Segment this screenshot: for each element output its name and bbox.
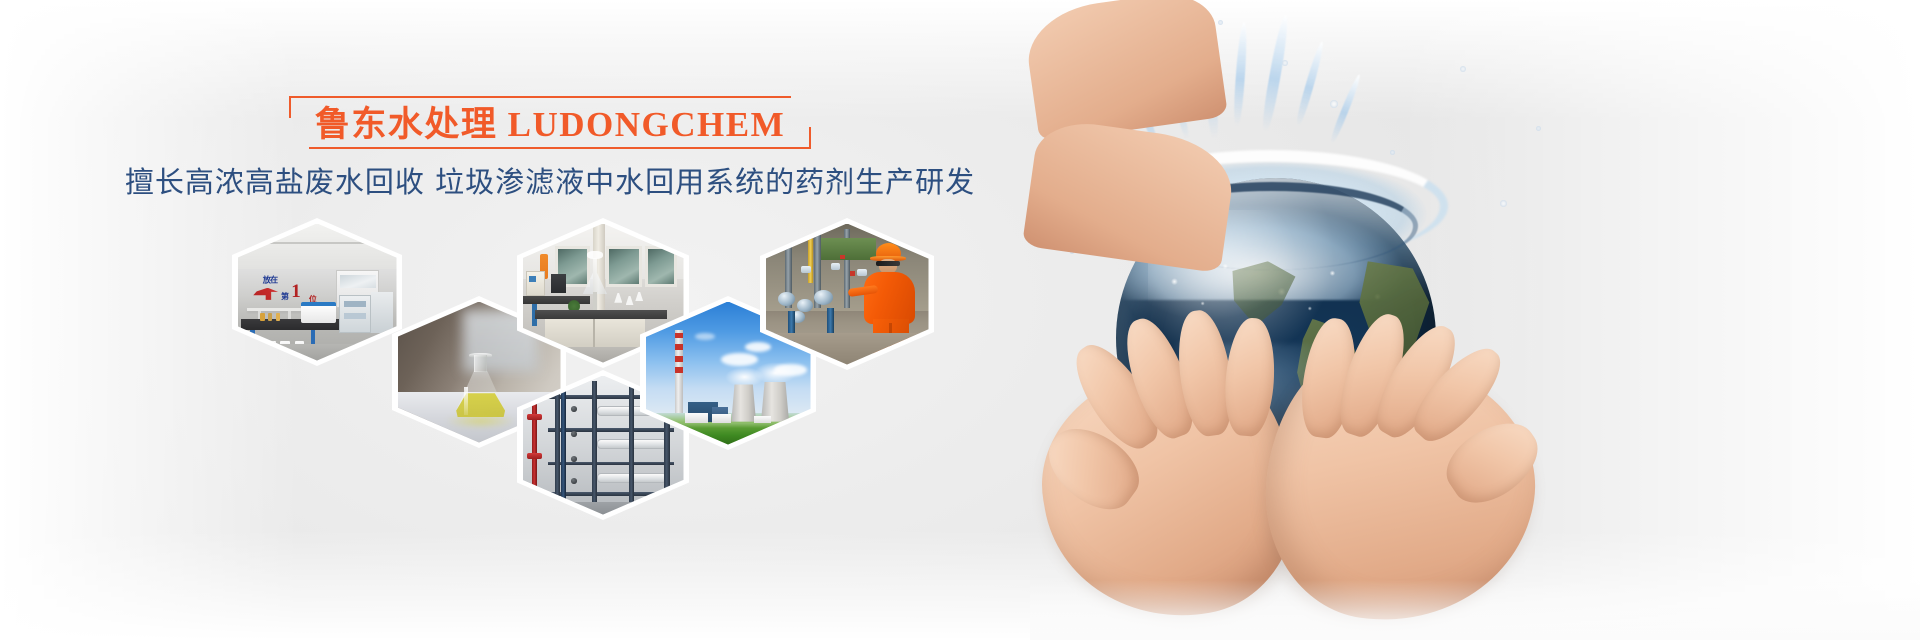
yellow-pipe [808,235,813,283]
stack-stripe [675,344,682,350]
erlenmeyer-flask [456,355,505,417]
worker-arm [848,285,878,297]
hero-banner: 鲁东水处理 LUDONGCHEM 擅长高浓高盐废水回收 垃圾渗滤液中水回用系统的… [0,0,1920,640]
small-flask [626,296,634,306]
water-streak [1294,41,1326,128]
page-subtitle: 擅长高浓高盐废水回收 垃圾渗滤液中水回用系统的药剂生产研发 [0,165,1100,200]
water-droplet [1330,100,1338,108]
water-globe-artwork [1030,0,1920,640]
water-droplet [1536,126,1541,131]
liquid-reflection [446,414,514,428]
pipe-fitting [571,456,577,462]
stack-stripe [675,333,682,339]
lab-bench-leg [250,330,255,349]
stack-stripe [675,367,682,373]
hexagon-photo-cluster: 放在 第 1 位 [232,218,952,518]
water-streak [1260,14,1291,132]
lab-room-photo: 放在 第 1 位 [238,224,397,361]
cooling-tower [731,384,756,421]
lab-instrument [301,302,336,324]
cloud [745,342,771,352]
lab-refrigerator [371,292,393,333]
control-box [801,266,811,273]
red-marker [840,255,845,259]
lab-window [645,246,677,288]
cooling-tower-steam [754,362,797,385]
island-bench-top [535,310,667,320]
cloud [695,333,715,340]
lab-ceiling [238,224,397,269]
small-flask [635,292,643,302]
title-bracket-frame: 鲁东水处理 LUDONGCHEM [289,96,811,149]
water-droplet [1218,20,1223,25]
lab-control-tower [339,295,371,333]
cloud [721,353,757,366]
flask-neck [474,355,488,372]
lab-floor [238,344,397,360]
small-flask [614,293,622,303]
plant-floor [523,502,684,515]
frame-rail [548,492,674,496]
bottom-fade-overlay [1030,580,1920,640]
frame-rail [548,428,674,432]
apparatus-top [587,251,602,259]
pipe-fitting [571,406,577,412]
blue-pipe [561,389,566,500]
apparatus-stand [593,292,598,310]
flask-highlight [464,387,468,414]
reagent-bottle [260,313,265,321]
lab-analyzer [526,271,545,296]
valve-wheel [797,299,813,313]
reagent-bottle [268,313,273,321]
storage-jug [266,341,276,357]
orange-coveralls [864,272,915,324]
title-rule-bottom [309,147,791,149]
frame-rail [548,462,674,466]
page-title: 鲁东水处理 LUDONGCHEM [315,105,785,145]
frame-post [592,381,597,509]
water-droplet [1500,200,1507,207]
valve-wheel [814,290,833,305]
wall-slogan-top: 放在 [263,273,277,285]
red-valve-handle [527,414,541,420]
stack-stripe [675,356,682,362]
red-valve-handle [527,453,541,459]
bracket-top-left-icon [289,96,309,118]
control-box [831,263,841,270]
title-rule-top [309,96,791,98]
pipe-fitting [571,478,577,484]
water-streak [1232,22,1248,126]
frame-post [555,381,560,509]
headline-block: 鲁东水处理 LUDONGCHEM 擅长高浓高盐废水回收 垃圾渗滤液中水回用系统的… [0,96,1100,200]
wall-slogan-number: 1 [291,282,301,301]
valve-wheel [778,292,795,306]
wall-arrow-icon [253,288,278,300]
water-droplet [1282,60,1288,66]
frame-post [629,381,634,509]
lab-monitor [551,274,565,293]
reagent-bottle [276,313,281,321]
island-bench-cabinet [545,319,645,350]
valve-assembly [775,288,847,330]
pipe-fitting [571,431,577,437]
plant-worker-valves-photo [766,224,929,365]
safety-goggles [876,261,900,266]
apparatus-glass [583,258,608,294]
hexagon-lab-room[interactable]: 放在 第 1 位 [232,218,402,366]
water-droplet [1460,66,1466,72]
bracket-bottom-right-icon [791,127,811,149]
wall-slogan-small: 第 [281,291,289,302]
smokestack [675,330,682,413]
